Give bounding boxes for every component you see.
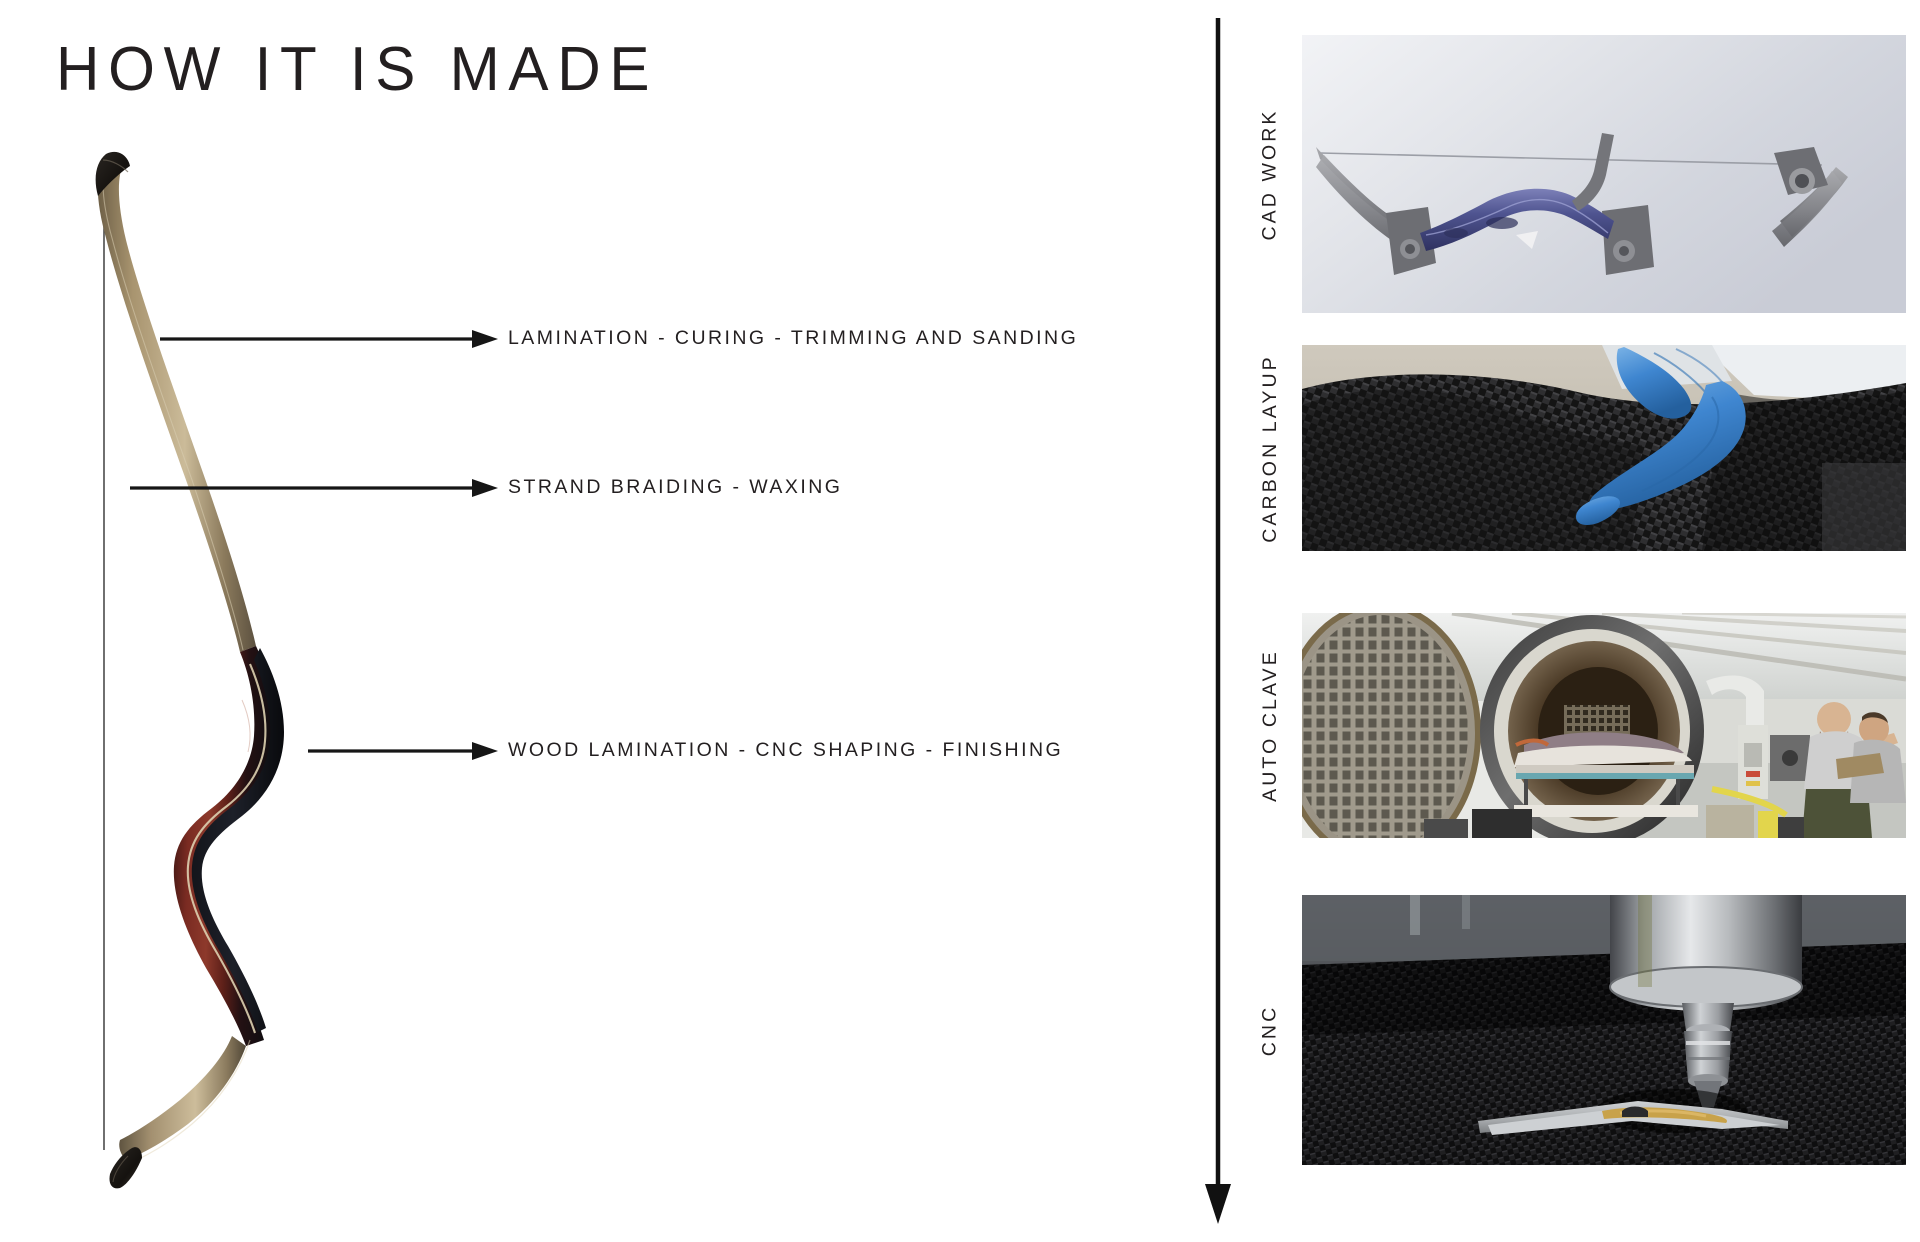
callout-label-lamination: LAMINATION - CURING - TRIMMING AND SANDI…: [508, 327, 1078, 350]
lower-limb-part: [119, 1036, 250, 1164]
page-title: HOW IT IS MADE: [56, 34, 658, 106]
stage-label-autoclave: AUTO CLAVE: [1246, 613, 1294, 838]
stage-cad-work: CAD WORK: [1246, 35, 1906, 313]
stage-cnc: CNC: [1246, 895, 1906, 1165]
leader-arrow-icon: [308, 734, 500, 768]
stage-autoclave: AUTO CLAVE: [1246, 613, 1906, 838]
leader-arrow-icon: [160, 322, 500, 356]
riser-part: [174, 646, 284, 1046]
callout-label-braiding: STRAND BRAIDING - WAXING: [508, 476, 842, 499]
stage-carbon-layup: CARBON LAYUP: [1246, 345, 1906, 551]
callout-braiding: STRAND BRAIDING - WAXING: [130, 471, 1170, 505]
recurve-bow-illustration: [60, 140, 390, 1200]
lower-limb-tip: [109, 1147, 142, 1188]
stage-photo-cnc: [1302, 895, 1906, 1165]
callout-lamination: LAMINATION - CURING - TRIMMING AND SANDI…: [160, 322, 1170, 356]
stage-photo-autoclave: [1302, 613, 1906, 838]
leader-arrow-icon: [130, 471, 500, 505]
process-stage-column: CAD WORK: [1246, 35, 1906, 1205]
stage-label-carbon-layup: CARBON LAYUP: [1246, 345, 1294, 551]
stage-label-cad-work: CAD WORK: [1246, 35, 1294, 313]
upper-limb-part: [98, 156, 256, 652]
stage-photo-carbon-layup: [1302, 345, 1906, 551]
slide-root: HOW IT IS MADE: [0, 0, 1920, 1242]
callout-label-wood: WOOD LAMINATION - CNC SHAPING - FINISHIN…: [508, 739, 1063, 762]
callout-wood: WOOD LAMINATION - CNC SHAPING - FINISHIN…: [308, 734, 1170, 768]
stage-photo-cad-work: [1302, 35, 1906, 313]
process-flow-arrow: [1198, 18, 1238, 1224]
stage-label-cnc: CNC: [1246, 895, 1294, 1165]
